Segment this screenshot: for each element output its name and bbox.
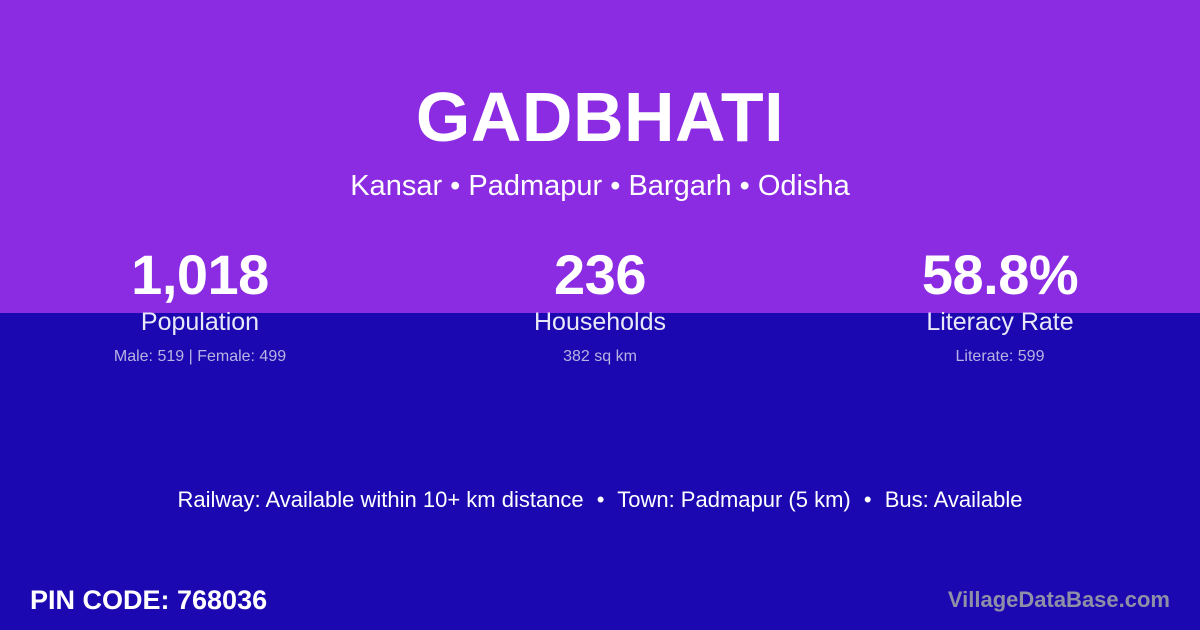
stat-value-households: 236 [400, 245, 800, 305]
card-header: GADBHATI Kansar • Padmapur • Bargarh • O… [0, 0, 1200, 201]
stat-sub-literacy-rate: Literate: 599 [800, 348, 1200, 366]
amenity-separator-1: • [590, 487, 612, 512]
stat-label-households: Households [400, 309, 800, 337]
breadcrumb: Kansar • Padmapur • Bargarh • Odisha [0, 152, 1200, 201]
stat-sub-households: 382 sq km [400, 348, 800, 366]
stat-sub-population: Male: 519 | Female: 499 [0, 348, 400, 366]
stat-label-literacy-rate: Literacy Rate [800, 309, 1200, 337]
village-info-card: GADBHATI Kansar • Padmapur • Bargarh • O… [0, 0, 1200, 630]
card-footer: PIN CODE: 768036 VillageDataBase.com [0, 570, 1200, 630]
site-watermark: VillageDataBase.com [948, 589, 1170, 611]
pin-code: PIN CODE: 768036 [30, 587, 267, 614]
amenity-bus: Bus: Available [885, 487, 1023, 512]
amenity-separator-2: • [857, 487, 879, 512]
amenity-town: Town: Padmapur (5 km) [617, 487, 851, 512]
amenity-railway: Railway: Available within 10+ km distanc… [177, 487, 583, 512]
stat-value-literacy-rate: 58.8% [800, 245, 1200, 305]
page-title: GADBHATI [0, 0, 1200, 152]
stat-label-population: Population [0, 309, 400, 337]
stat-literacy-rate: 58.8% Literacy Rate Literate: 599 [800, 245, 1200, 366]
amenities-line: Railway: Available within 10+ km distanc… [0, 487, 1200, 513]
stat-value-population: 1,018 [0, 245, 400, 305]
stats-row: 1,018 Population Male: 519 | Female: 499… [0, 245, 1200, 366]
stat-population: 1,018 Population Male: 519 | Female: 499 [0, 245, 400, 366]
stat-households: 236 Households 382 sq km [400, 245, 800, 366]
